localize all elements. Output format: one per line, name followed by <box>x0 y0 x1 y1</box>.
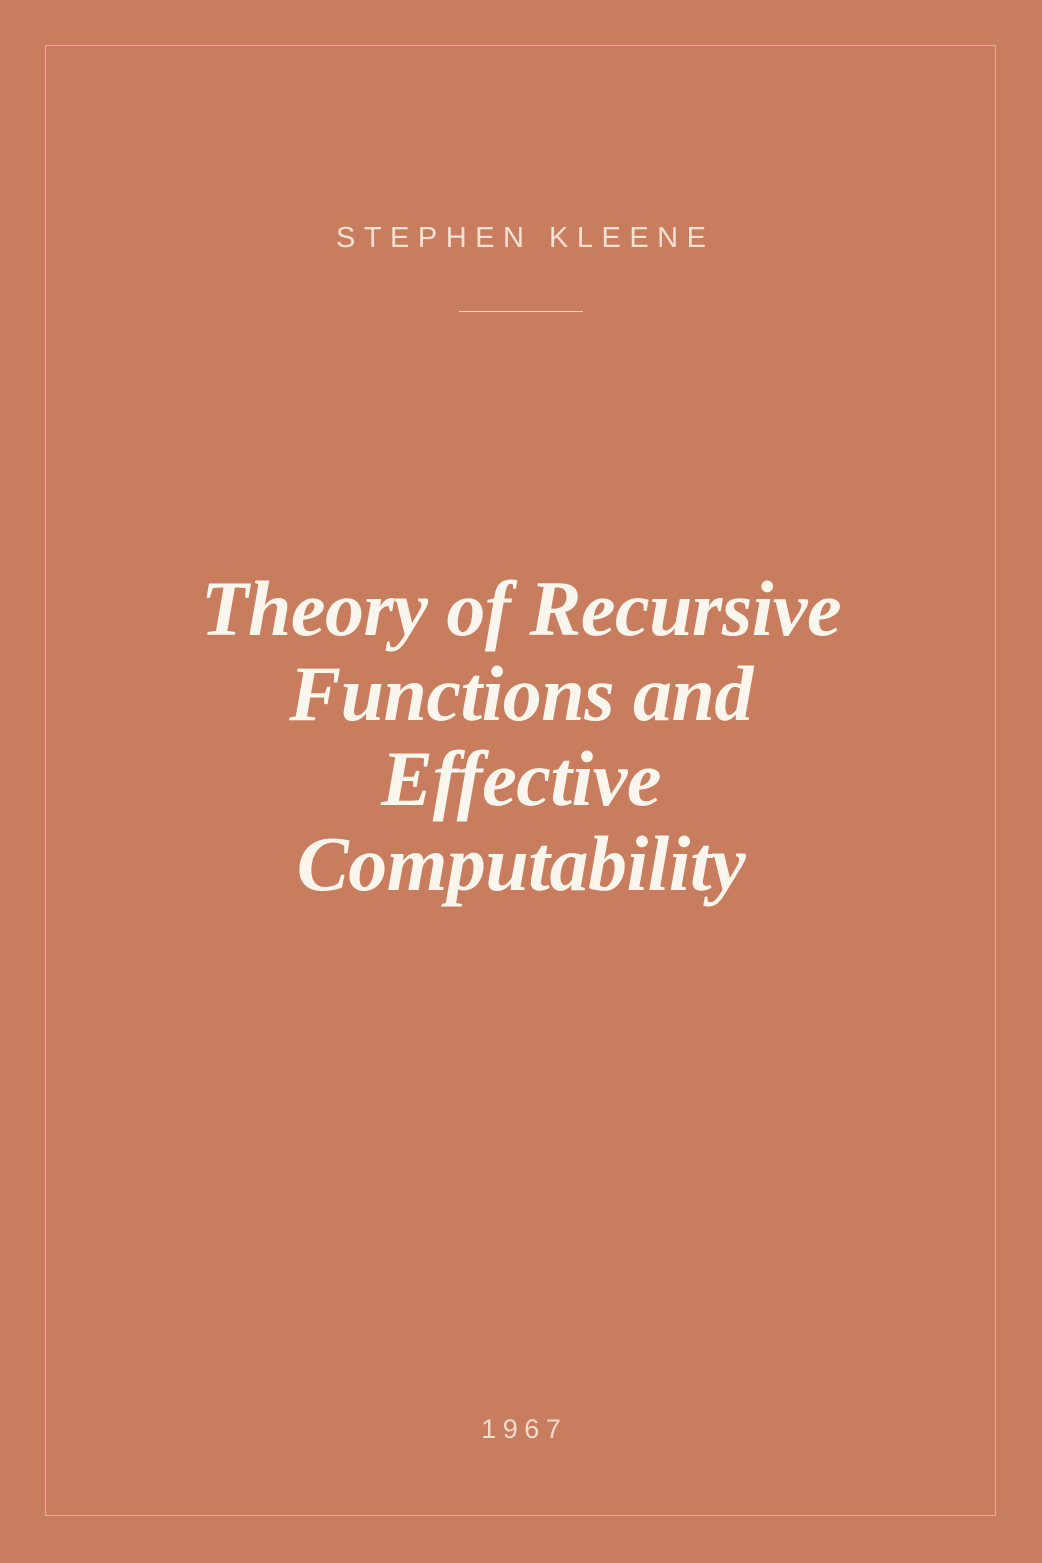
author-name: STEPHEN KLEENE <box>0 219 1042 257</box>
title-divider-rule <box>459 311 583 312</box>
book-cover: STEPHEN KLEENE Theory of Recursive Funct… <box>0 0 1042 1563</box>
title-line-2: Functions and <box>141 651 901 736</box>
title-line-1: Theory of Recursive <box>141 566 901 651</box>
publication-year: 1967 <box>0 1412 1042 1446</box>
title-line-3: Effective <box>141 736 901 821</box>
cover-content: STEPHEN KLEENE Theory of Recursive Funct… <box>0 0 1042 1563</box>
book-title: Theory of Recursive Functions and Effect… <box>141 566 901 906</box>
title-line-4: Computability <box>141 821 901 906</box>
